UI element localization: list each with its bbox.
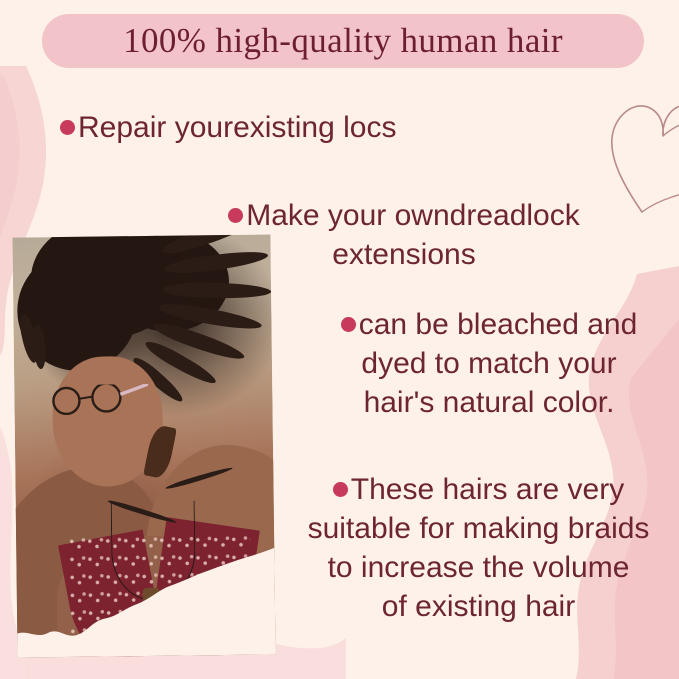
bullet-text: can be bleached and [359, 308, 638, 341]
bullet-dot-icon [60, 120, 75, 135]
bullet-item-repair-locs: Repair yourexisting locs [60, 108, 396, 147]
necklace-pendant [143, 588, 160, 611]
model-photo [12, 234, 275, 657]
bullet-text: These hairs are very [351, 473, 624, 506]
bullet-line: can be bleached and [313, 305, 665, 344]
promo-graphic: 100% high-quality human hair [0, 0, 679, 679]
bullet-dot-icon [228, 208, 243, 223]
glasses-icon [44, 384, 148, 415]
bullet-item-suitable-for-braids: These hairs are very suitable for making… [288, 470, 669, 626]
bullet-dot-icon [341, 317, 356, 332]
bullet-line: suitable for making braids [288, 509, 669, 548]
bullet-dot-icon [333, 482, 348, 497]
bullet-line: hair's natural color. [313, 383, 665, 422]
bullet-text: Repair yourexisting locs [78, 111, 396, 144]
bullet-text: Make your owndreadlock [246, 199, 580, 232]
bullet-item-own-dreadlock-extensions: Make your owndreadlock extensions [198, 196, 610, 274]
bullet-line: extensions [198, 235, 610, 274]
bullet-line: of existing hair [288, 587, 669, 626]
page-title: 100% high-quality human hair [123, 21, 563, 61]
bullet-item-bleached-and-dyed: can be bleached and dyed to match your h… [313, 305, 665, 422]
photo-content [12, 234, 275, 657]
bullet-line: Make your owndreadlock [198, 196, 610, 235]
necklace-cord [111, 500, 196, 601]
bullet-line: These hairs are very [288, 470, 669, 509]
bullet-line: Repair yourexisting locs [60, 108, 396, 147]
title-banner: 100% high-quality human hair [42, 14, 644, 68]
bullet-line: to increase the volume [288, 548, 669, 587]
bullet-line: dyed to match your [313, 344, 665, 383]
